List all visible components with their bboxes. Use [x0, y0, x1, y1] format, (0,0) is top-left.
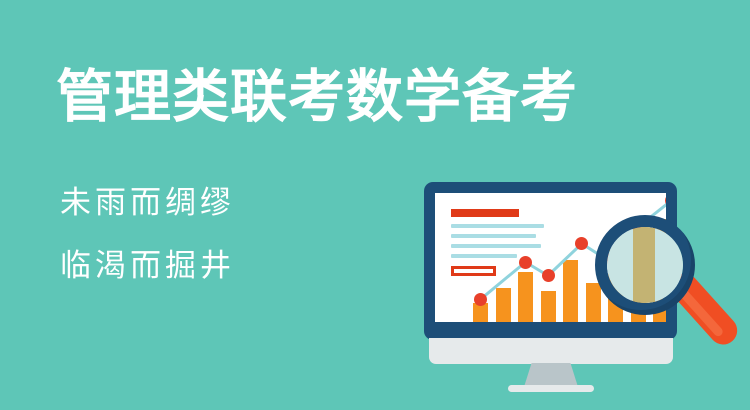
monitor-stand-neck — [524, 363, 578, 387]
subtitle-line-1: 未雨而绸缪 — [60, 186, 235, 220]
trend-dot — [542, 269, 555, 282]
banner-root: 管理类联考数学备考 未雨而绸缪 临渴而掘井 — [0, 0, 750, 410]
text-block: 管理类联考数学备考 未雨而绸缪 临渴而掘井 — [0, 0, 420, 410]
monitor-stand-base — [508, 385, 594, 392]
page-title: 管理类联考数学备考 — [56, 66, 578, 128]
subtitle-line-2: 临渴而掘井 — [60, 249, 235, 283]
trend-dot — [474, 293, 487, 306]
trend-dot — [519, 256, 532, 269]
magnifier-icon — [595, 215, 740, 355]
magnifier-ring-shadow — [595, 215, 695, 315]
